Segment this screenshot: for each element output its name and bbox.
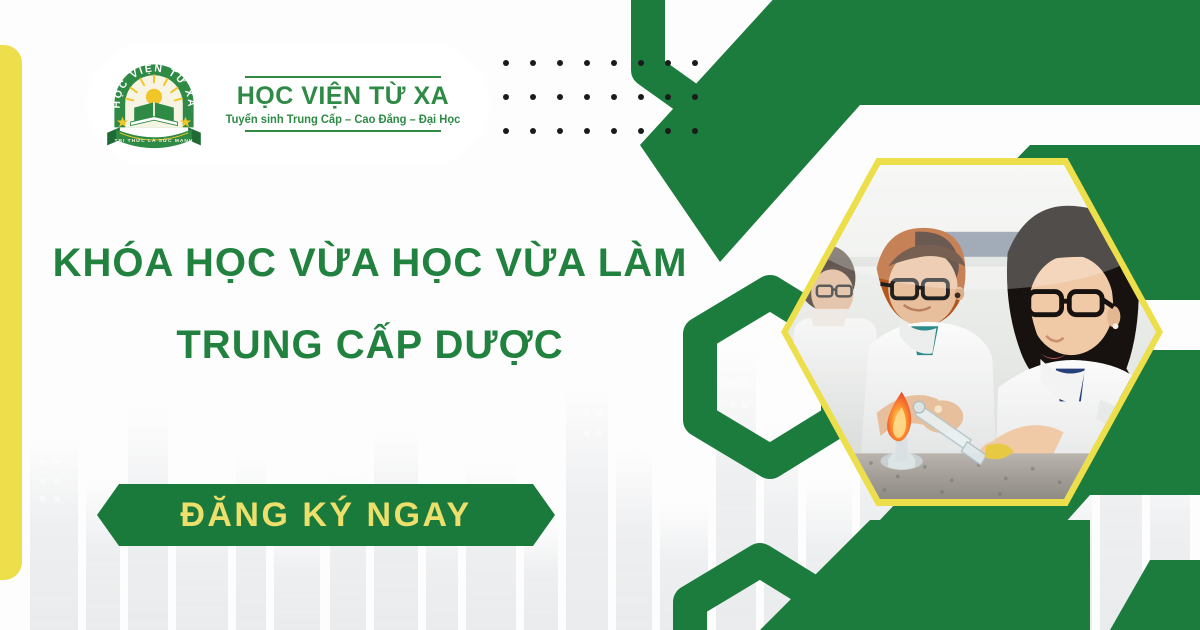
register-now-label: ĐĂNG KÝ NGAY [180, 496, 471, 535]
headline-line-2: TRUNG CẤP DƯỢC [0, 325, 740, 365]
hoc-vien-tu-xa-shield-emblem: HỌC VIỆN TỪ XA [100, 50, 208, 158]
grid-dot [665, 60, 671, 66]
grid-dot [638, 60, 644, 66]
grid-dot [611, 128, 617, 134]
grid-dot [584, 94, 590, 100]
grid-dot [665, 94, 671, 100]
grid-dot [638, 128, 644, 134]
logo-subtitle: Tuyển sinh Trung Cấp – Cao Đẳng – Đại Họ… [226, 114, 461, 126]
register-now-button[interactable]: ĐĂNG KÝ NGAY [97, 484, 555, 546]
grid-dot [611, 60, 617, 66]
grid-dot [584, 128, 590, 134]
grid-dot [503, 128, 509, 134]
logo-rule-top [245, 76, 441, 78]
promo-banner: HỌC VIỆN TỪ XA [0, 0, 1200, 630]
grid-dot [692, 94, 698, 100]
grid-dot [638, 94, 644, 100]
grid-dot [584, 60, 590, 66]
grid-dot [692, 60, 698, 66]
brand-logo-lockup[interactable]: HỌC VIỆN TỪ XA [88, 44, 488, 164]
pharmacy-lab-photo [788, 165, 1156, 499]
logo-rule-bottom [245, 130, 441, 132]
logo-text-block: HỌC VIỆN TỪ XA Tuyển sinh Trung Cấp – Ca… [222, 76, 464, 131]
headline-line-1: KHÓA HỌC VỪA HỌC VỪA LÀM [0, 243, 740, 283]
grid-dot [503, 94, 509, 100]
grid-dot [530, 128, 536, 134]
grid-dot [611, 94, 617, 100]
dot-grid-decoration [503, 60, 703, 138]
hero-photo-clip [788, 165, 1156, 499]
logo-title: HỌC VIỆN TỪ XA [237, 81, 449, 112]
grid-dot [530, 60, 536, 66]
grid-dot [692, 128, 698, 134]
grid-dot [557, 128, 563, 134]
grid-dot [503, 60, 509, 66]
grid-dot [530, 94, 536, 100]
headline-block: KHÓA HỌC VỪA HỌC VỪA LÀM TRUNG CẤP DƯỢC [0, 243, 740, 365]
grid-dot [665, 128, 671, 134]
grid-dot [557, 94, 563, 100]
hero-photo-hexagon [781, 158, 1163, 506]
grid-dot [557, 60, 563, 66]
